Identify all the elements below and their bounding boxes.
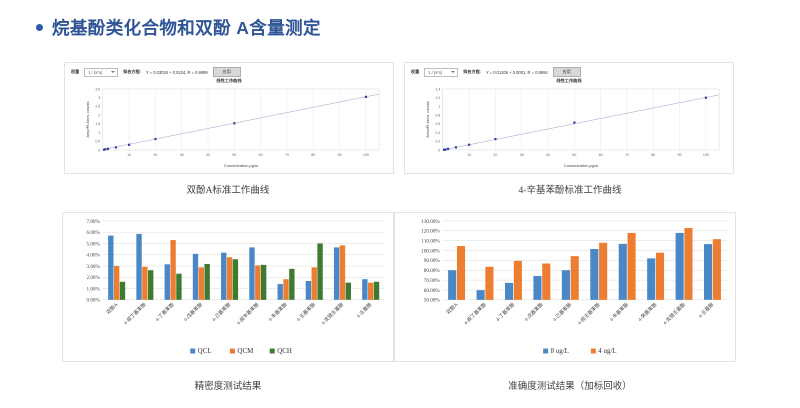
svg-text:40: 40: [206, 153, 210, 157]
svg-text:Concentration,pg/ul: Concentration,pg/ul: [224, 163, 258, 168]
svg-text:Amp/Pt Area, counts: Amp/Pt Area, counts: [85, 101, 90, 137]
svg-text:130.00%: 130.00%: [421, 219, 440, 225]
svg-text:110.00%: 110.00%: [421, 239, 440, 245]
accuracy-chart-caption: 准确度测试结果（加标回收）: [400, 378, 740, 392]
svg-text:70.00%: 70.00%: [424, 278, 441, 284]
bpa-curve-caption: 双酚A标准工作曲线: [58, 182, 398, 196]
svg-text:10: 10: [467, 153, 471, 157]
svg-text:0.5: 0.5: [95, 140, 100, 144]
svg-text:8 ug/L: 8 ug/L: [551, 348, 569, 355]
page-title: 烷基酚类化合物和双酚 A含量测定: [36, 15, 321, 40]
svg-text:Area/Pt Area, counts: Area/Pt Area, counts: [425, 101, 430, 138]
svg-text:60.00%: 60.00%: [424, 288, 441, 294]
svg-text:Concentration,pg/ul: Concentration,pg/ul: [564, 163, 598, 168]
svg-text:120.00%: 120.00%: [421, 229, 440, 235]
svg-text:0: 0: [98, 148, 100, 152]
svg-text:10: 10: [127, 153, 131, 157]
fit-equation-label: 拟合方程:: [463, 69, 481, 75]
svg-text:1.00%: 1.00%: [86, 286, 100, 292]
svg-text:50: 50: [572, 153, 576, 157]
bpa-calibration-panel: 权重 1 / (x*x) 拟合方程: Y = 0.03034 + 0.0224,…: [64, 62, 394, 174]
svg-text:1: 1: [98, 131, 100, 135]
svg-text:3: 3: [98, 96, 100, 100]
fit-equation-value: Y = 0.01206 + 0.0001, R = 0.9994: [486, 70, 548, 75]
svg-text:70: 70: [625, 153, 629, 157]
svg-text:30: 30: [520, 153, 524, 157]
octylphenol-curve-caption: 4-辛基苯酚标准工作曲线: [400, 182, 740, 196]
svg-text:4 ug/L: 4 ug/L: [598, 348, 616, 355]
apply-button[interactable]: 应用: [213, 67, 241, 77]
svg-text:60: 60: [259, 153, 263, 157]
precision-bar-chart-panel: 0.00%1.00%2.00%3.00%4.00%5.00%6.00%7.00%…: [62, 212, 394, 362]
svg-text:100: 100: [363, 153, 369, 157]
svg-text:2.00%: 2.00%: [86, 275, 100, 281]
svg-text:0.8: 0.8: [435, 113, 440, 117]
bpa-calibration-toolbar: 权重 1 / (x*x) 拟合方程: Y = 0.03034 + 0.0224,…: [65, 63, 393, 77]
weight-select[interactable]: 1 / (x*x): [84, 68, 118, 77]
page-title-text: 烷基酚类化合物和双酚 A含量测定: [52, 15, 321, 40]
svg-text:80: 80: [651, 153, 655, 157]
bpa-scatter-plot: 10203040506070809010000.511.522.533.5Con…: [65, 84, 393, 170]
svg-text:0: 0: [438, 148, 440, 152]
svg-text:QCL: QCL: [198, 348, 212, 355]
weight-label: 权重: [411, 69, 419, 75]
svg-text:50: 50: [232, 153, 236, 157]
svg-text:100: 100: [703, 153, 709, 157]
svg-text:0.4: 0.4: [435, 131, 440, 135]
weight-select[interactable]: 1 / (x*x): [424, 68, 458, 77]
svg-text:5.00%: 5.00%: [86, 241, 100, 247]
svg-text:60: 60: [599, 153, 603, 157]
svg-text:40: 40: [546, 153, 550, 157]
svg-text:1.2: 1.2: [435, 96, 440, 100]
svg-text:QCM: QCM: [237, 348, 253, 355]
svg-text:0.00%: 0.00%: [86, 298, 100, 304]
svg-text:3.5: 3.5: [95, 87, 100, 91]
svg-text:90: 90: [338, 153, 342, 157]
svg-text:3.00%: 3.00%: [86, 264, 100, 270]
svg-text:1.4: 1.4: [435, 87, 440, 91]
svg-text:90: 90: [678, 153, 682, 157]
svg-text:2: 2: [98, 113, 100, 117]
svg-text:0.6: 0.6: [435, 122, 440, 126]
svg-text:4.00%: 4.00%: [86, 253, 100, 259]
accuracy-bar-chart-panel: 50.00%60.00%70.00%80.00%90.00%100.00%110…: [394, 212, 736, 362]
fit-equation-label: 拟合方程:: [123, 69, 141, 75]
precision-chart-caption: 精密度测试结果: [58, 378, 398, 392]
weight-label: 权重: [71, 69, 79, 75]
svg-text:7.00%: 7.00%: [86, 219, 100, 225]
svg-text:1.5: 1.5: [95, 122, 100, 126]
octylphenol-calibration-toolbar: 权重 1 / (x*x) 拟合方程: Y = 0.01206 + 0.0001,…: [405, 63, 733, 77]
svg-text:70: 70: [285, 153, 289, 157]
octylphenol-scatter-plot: 10203040506070809010000.20.40.60.811.21.…: [405, 84, 733, 170]
svg-text:1: 1: [438, 105, 440, 109]
svg-text:30: 30: [180, 153, 184, 157]
svg-text:6.00%: 6.00%: [86, 230, 100, 236]
fit-equation-value: Y = 0.03034 + 0.0224, R = 0.9999: [146, 70, 208, 75]
svg-text:20: 20: [493, 153, 497, 157]
svg-text:20: 20: [153, 153, 157, 157]
bullet-dot-icon: [36, 24, 43, 31]
svg-text:2.5: 2.5: [95, 105, 100, 109]
svg-text:QCH: QCH: [277, 348, 292, 355]
octylphenol-calibration-panel: 权重 1 / (x*x) 拟合方程: Y = 0.01206 + 0.0001,…: [404, 62, 734, 174]
svg-text:90.00%: 90.00%: [424, 258, 441, 264]
svg-text:100.00%: 100.00%: [421, 248, 440, 254]
apply-button[interactable]: 应用: [553, 67, 581, 77]
svg-text:0.2: 0.2: [435, 140, 440, 144]
svg-text:80: 80: [311, 153, 315, 157]
svg-text:80.00%: 80.00%: [424, 268, 441, 274]
svg-text:50.00%: 50.00%: [424, 298, 441, 304]
